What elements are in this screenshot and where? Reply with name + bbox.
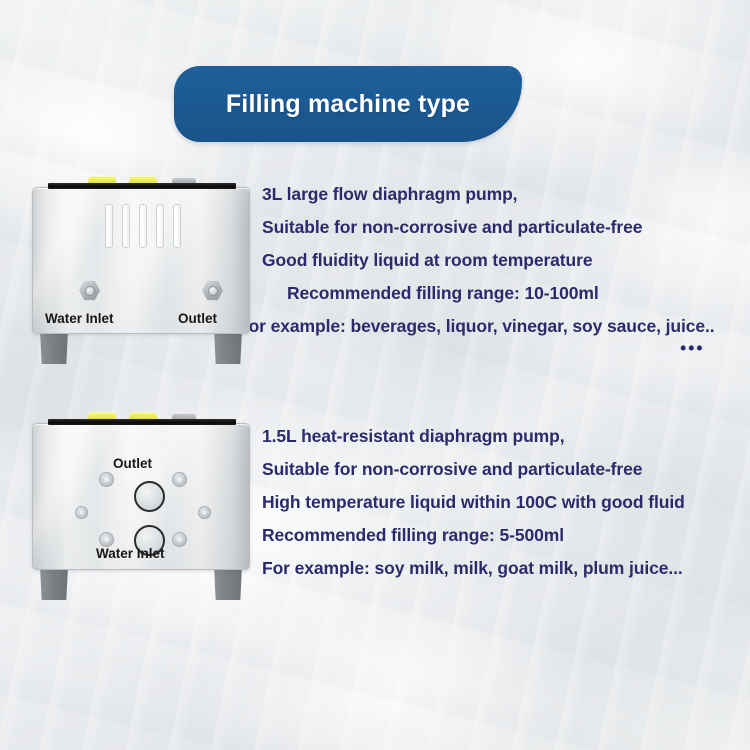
header-banner: Filling machine type [174, 66, 522, 142]
vent-slot-icon [122, 204, 130, 248]
vent-slot-icon [173, 204, 181, 248]
spec-line: For example: soy milk, milk, goat milk, … [262, 552, 685, 585]
machine-label-outlet: Outlet [113, 456, 152, 471]
outlet-port-icon [134, 481, 165, 512]
spec-ellipsis: ••• [262, 343, 715, 353]
vent-slot-icon [156, 204, 164, 248]
machine-body-panel: Water Inlet Outlet [32, 187, 250, 334]
machine-leg-right [214, 566, 242, 600]
machine-illustration-3l: Water Inlet Outlet [26, 172, 258, 370]
bolt-icon [75, 506, 88, 519]
bolt-icon [172, 532, 187, 547]
machine-leg-left [40, 330, 68, 364]
vent-slot-icon [139, 204, 147, 248]
bolt-icon [99, 532, 114, 547]
vent-slots [105, 204, 181, 248]
vent-slot-icon [105, 204, 113, 248]
machine-top-bar [48, 183, 236, 189]
spec-line: For example: beverages, liquor, vinegar,… [234, 310, 715, 343]
machine-illustration-1-5l: Outlet Water Inlet [26, 408, 258, 606]
spec-text-block-1-5l: 1.5L heat-resistant diaphragm pump, Suit… [262, 420, 685, 585]
spec-line: 3L large flow diaphragm pump, [262, 178, 715, 211]
spec-line: Recommended filling range: 5-500ml [262, 519, 685, 552]
machine-label-outlet: Outlet [178, 311, 217, 326]
bolt-icon [198, 506, 211, 519]
spec-line: 1.5L heat-resistant diaphragm pump, [262, 420, 685, 453]
bolt-icon [99, 472, 114, 487]
water-inlet-fitting-icon [79, 280, 100, 301]
spec-line: High temperature liquid within 100C with… [262, 486, 685, 519]
spec-line: Suitable for non-corrosive and particula… [262, 453, 685, 486]
machine-label-water-inlet: Water Inlet [96, 546, 165, 561]
machine-top-bar [48, 419, 236, 425]
machine-leg-left [40, 566, 68, 600]
machine-body-panel: Outlet Water Inlet [32, 423, 250, 570]
page-title: Filling machine type [226, 90, 470, 119]
spec-line: Good fluidity liquid at room temperature [262, 244, 715, 277]
infographic-page: Filling machine type Water Inlet O [0, 0, 750, 750]
bolt-icon [172, 472, 187, 487]
spec-text-block-3l: 3L large flow diaphragm pump, Suitable f… [262, 178, 715, 353]
spec-line: Recommended filling range: 10-100ml [262, 277, 715, 310]
outlet-fitting-icon [202, 280, 223, 301]
spec-line: Suitable for non-corrosive and particula… [262, 211, 715, 244]
machine-label-water-inlet: Water Inlet [45, 311, 114, 326]
